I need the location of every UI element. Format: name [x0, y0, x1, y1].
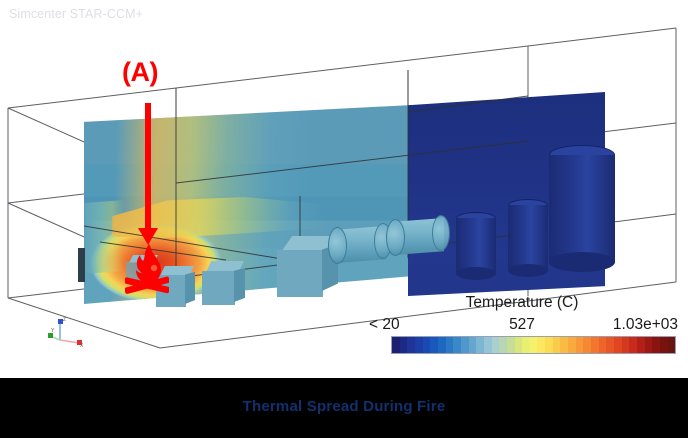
- colorbar-band-7: [446, 337, 454, 353]
- svg-text:Y: Y: [51, 328, 55, 334]
- colorbar-band-16: [515, 337, 523, 353]
- colorbar-band-2: [407, 337, 415, 353]
- legend-colorbar: [391, 336, 676, 354]
- colorbar-band-34: [652, 337, 660, 353]
- horizontal-cylinder-2: [386, 215, 448, 259]
- annotation-arrow-shaft: [145, 103, 151, 231]
- colorbar-band-31: [629, 337, 637, 353]
- legend-title: Temperature (C): [366, 294, 678, 312]
- colorbar-band-14: [499, 337, 507, 353]
- colorbar-band-23: [568, 337, 576, 353]
- colorbar-band-33: [645, 337, 653, 353]
- wall-plate: [78, 248, 85, 282]
- colorbar-band-8: [453, 337, 461, 353]
- equipment-box-2: [202, 261, 246, 307]
- legend-tick-max: 1.03e+03: [613, 316, 678, 334]
- viewport-3d-scene[interactable]: Simcenter STAR-CCM+: [0, 0, 688, 378]
- colorbar-band-24: [576, 337, 584, 353]
- colorbar-band-29: [614, 337, 622, 353]
- axis-triad-icon: Z X Y: [46, 314, 86, 350]
- colorbar-band-28: [606, 337, 614, 353]
- svg-text:X: X: [80, 343, 84, 349]
- temperature-legend: Temperature (C) < 20 527 1.03e+03: [366, 294, 678, 358]
- horizontal-cylinder-1: [328, 223, 390, 267]
- annotation-label-a: (A): [122, 57, 158, 88]
- colorbar-band-17: [522, 337, 530, 353]
- colorbar-band-10: [469, 337, 477, 353]
- colorbar-band-22: [560, 337, 568, 353]
- vertical-tank-3: [549, 145, 615, 275]
- colorbar-band-12: [484, 337, 492, 353]
- colorbar-band-20: [545, 337, 553, 353]
- colorbar-band-21: [553, 337, 561, 353]
- colorbar-band-11: [476, 337, 484, 353]
- colorbar-band-35: [660, 337, 668, 353]
- colorbar-band-36: [668, 337, 676, 353]
- colorbar-band-5: [430, 337, 438, 353]
- caption-bar: Thermal Spread During Fire: [0, 378, 688, 438]
- svg-text:Z: Z: [63, 317, 66, 323]
- colorbar-band-25: [583, 337, 591, 353]
- colorbar-band-15: [507, 337, 515, 353]
- colorbar-band-18: [530, 337, 538, 353]
- vertical-tank-1: [456, 212, 496, 282]
- temperature-contour-left-fringe: [84, 200, 124, 274]
- colorbar-band-3: [415, 337, 423, 353]
- colorbar-band-26: [591, 337, 599, 353]
- colorbar-band-0: [392, 337, 400, 353]
- colorbar-band-1: [400, 337, 408, 353]
- colorbar-band-4: [423, 337, 431, 353]
- fire-icon: [125, 242, 169, 294]
- colorbar-band-6: [438, 337, 446, 353]
- caption-text: Thermal Spread During Fire: [0, 398, 688, 415]
- colorbar-band-19: [537, 337, 545, 353]
- vertical-tank-2: [508, 199, 548, 279]
- colorbar-band-9: [461, 337, 469, 353]
- colorbar-band-32: [637, 337, 645, 353]
- colorbar-band-27: [599, 337, 607, 353]
- colorbar-band-13: [492, 337, 500, 353]
- colorbar-band-30: [622, 337, 630, 353]
